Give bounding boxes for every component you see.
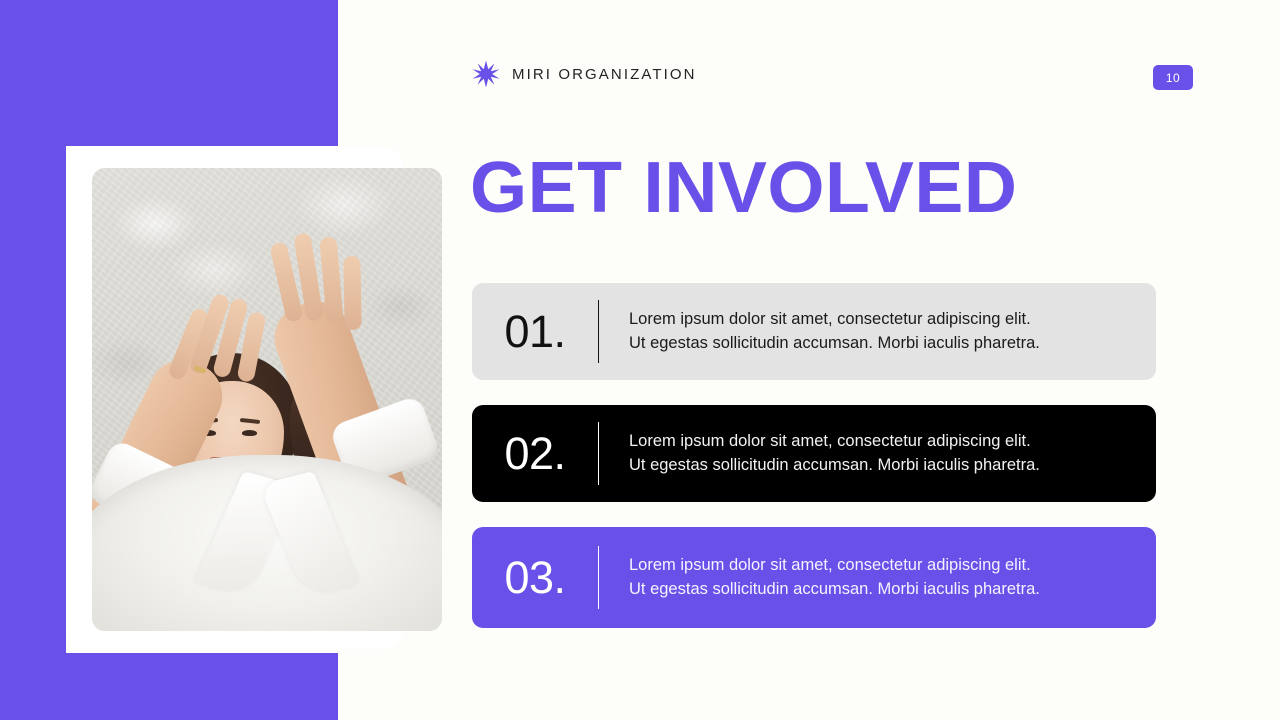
- list-item-number: 01.: [472, 306, 598, 358]
- photo-eyebrow-right: [240, 418, 260, 424]
- list-item-line-1: Lorem ipsum dolor sit amet, consectetur …: [629, 308, 1040, 332]
- list-item-line-2: Ut egestas sollicitudin accumsan. Morbi …: [629, 578, 1040, 602]
- slide-canvas: MIRI ORGANIZATION 10 GET INVOLVED 01. Lo…: [0, 0, 1280, 720]
- list-item-number: 03.: [472, 552, 598, 604]
- photo-finger: [343, 256, 361, 330]
- hero-photo: [92, 168, 442, 631]
- eight-point-star-icon: [472, 60, 500, 88]
- list-item-line-1: Lorem ipsum dolor sit amet, consectetur …: [629, 430, 1040, 454]
- decor-purple-left-strip: [0, 146, 66, 653]
- list-item-line-2: Ut egestas sollicitudin accumsan. Morbi …: [629, 332, 1040, 356]
- slide-header: MIRI ORGANIZATION: [472, 60, 697, 88]
- list-item-text: Lorem ipsum dolor sit amet, consectetur …: [599, 308, 1040, 356]
- numbered-list: 01. Lorem ipsum dolor sit amet, consecte…: [472, 283, 1156, 628]
- list-item-text: Lorem ipsum dolor sit amet, consectetur …: [599, 554, 1040, 602]
- list-item[interactable]: 02. Lorem ipsum dolor sit amet, consecte…: [472, 405, 1156, 502]
- list-item-line-1: Lorem ipsum dolor sit amet, consectetur …: [629, 554, 1040, 578]
- decor-purple-bottom-block: [0, 653, 338, 720]
- list-item-text: Lorem ipsum dolor sit amet, consectetur …: [599, 430, 1040, 478]
- page-title: GET INVOLVED: [470, 152, 1017, 224]
- list-item[interactable]: 03. Lorem ipsum dolor sit amet, consecte…: [472, 527, 1156, 628]
- list-item[interactable]: 01. Lorem ipsum dolor sit amet, consecte…: [472, 283, 1156, 380]
- list-item-number: 02.: [472, 428, 598, 480]
- list-item-line-2: Ut egestas sollicitudin accumsan. Morbi …: [629, 454, 1040, 478]
- page-number-badge: 10: [1153, 65, 1193, 90]
- photo-eye-right: [242, 430, 257, 436]
- decor-purple-top-block: [0, 0, 338, 146]
- brand-name: MIRI ORGANIZATION: [512, 66, 697, 83]
